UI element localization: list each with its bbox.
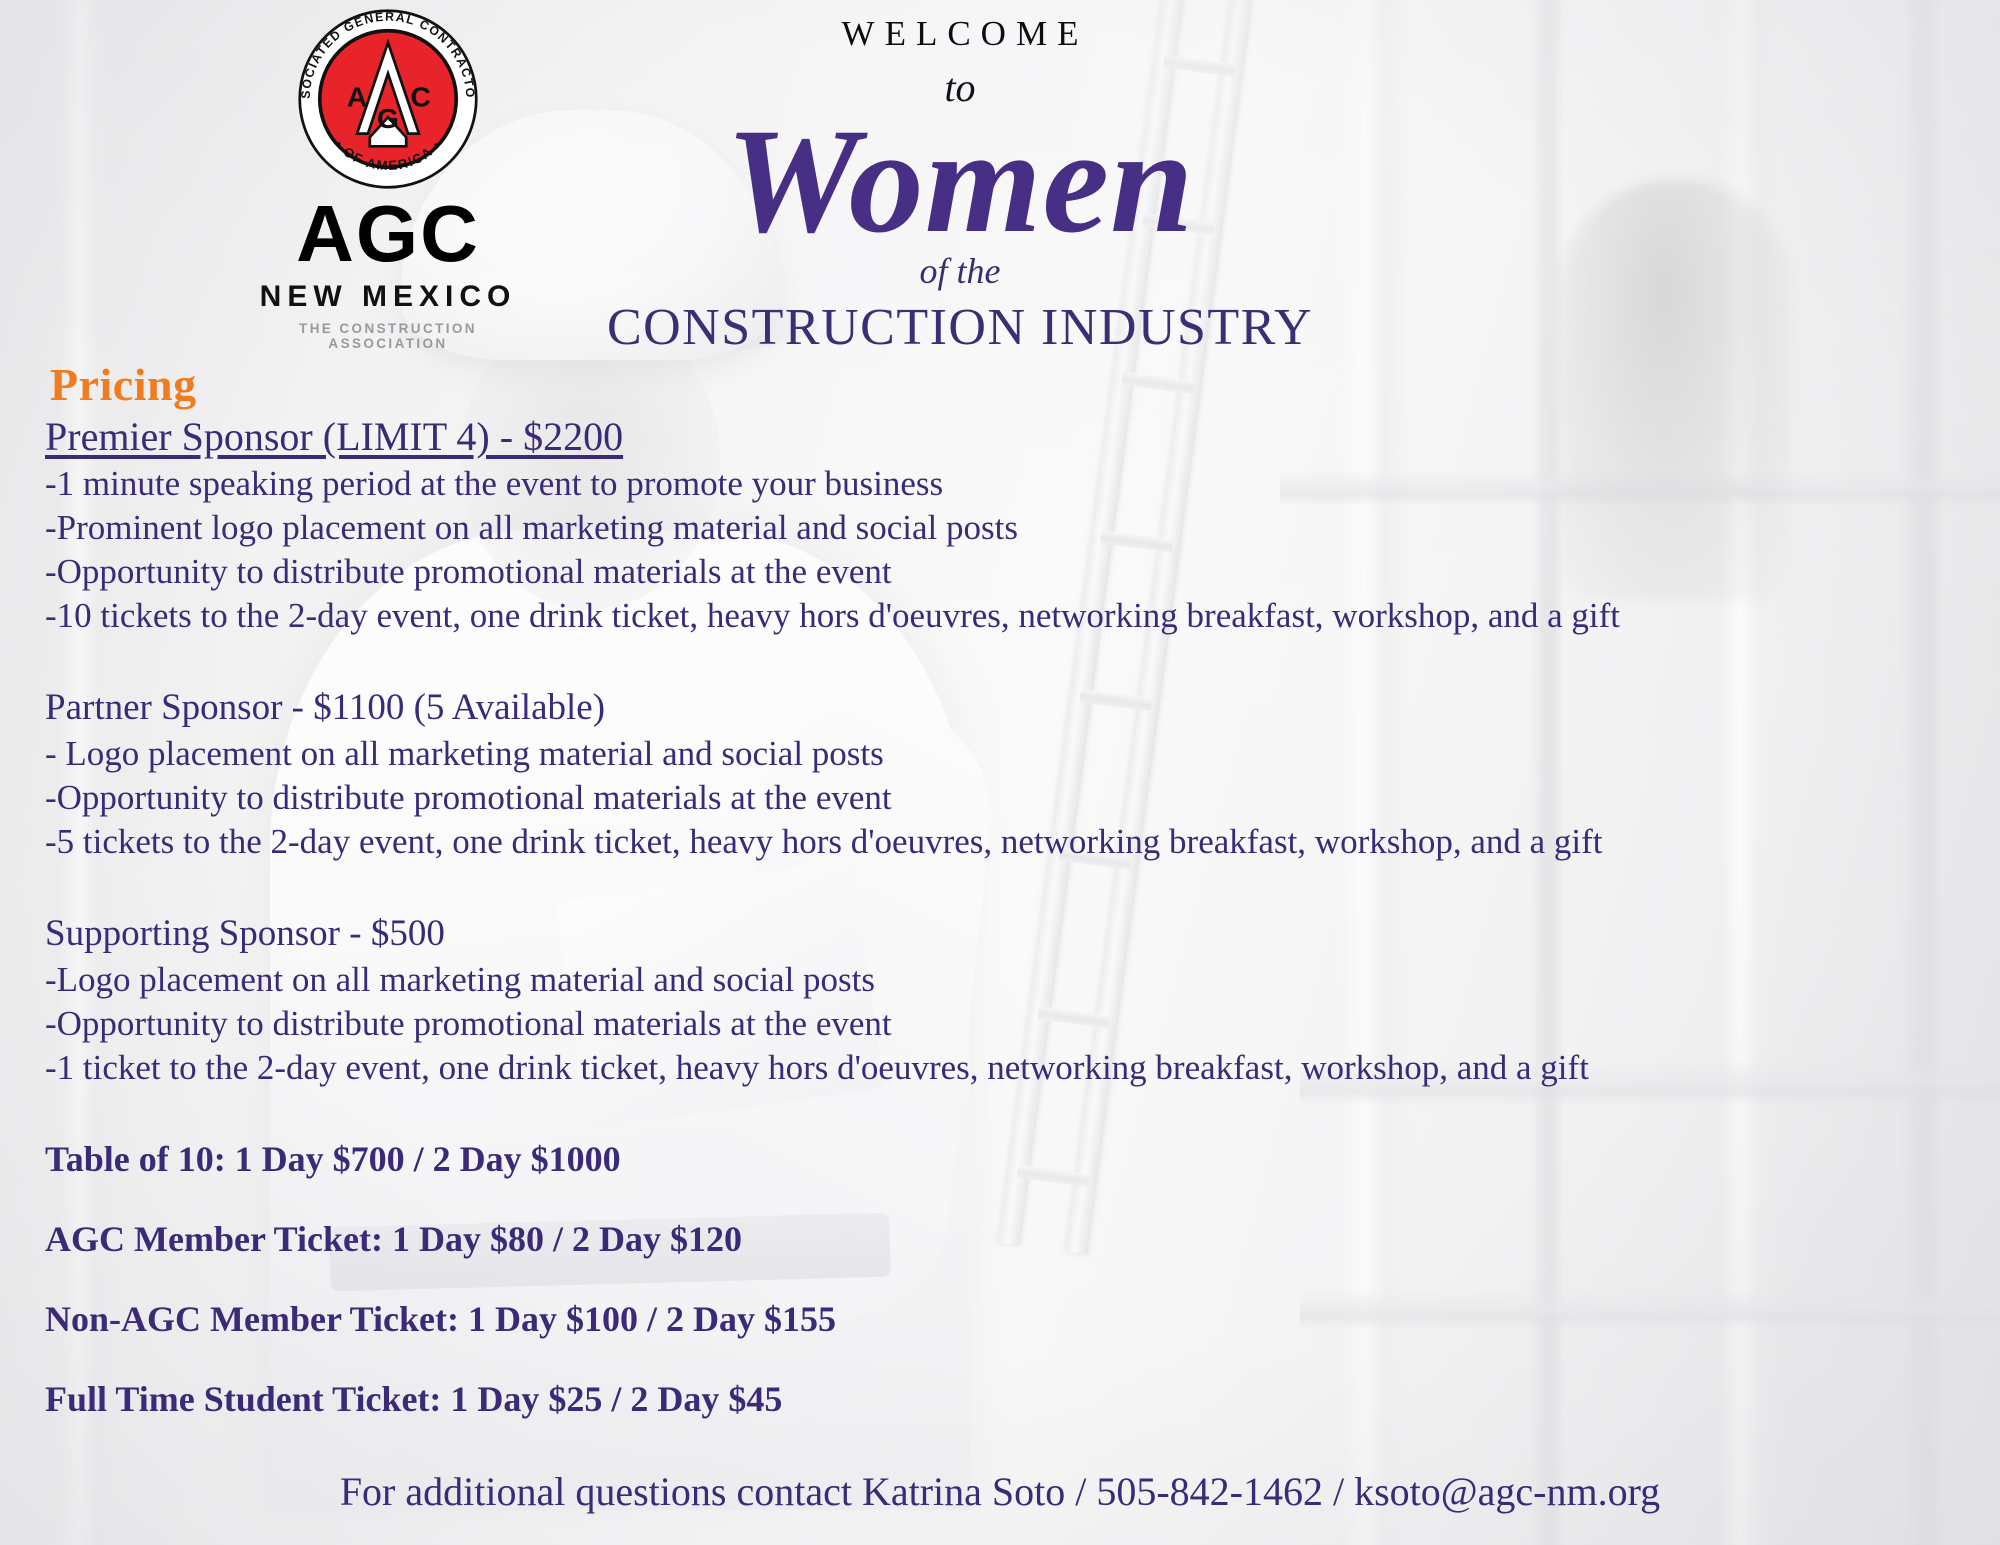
event-headline: WELCOME to Women of the CONSTRUCTION IND…: [510, 14, 1410, 357]
svg-text:A: A: [347, 80, 367, 112]
tier-bullet: -1 minute speaking period at the event t…: [45, 462, 1985, 506]
row-spacer: [45, 1342, 1985, 1376]
ticket-price-row: Non-AGC Member Ticket: 1 Day $100 / 2 Da…: [45, 1296, 1985, 1342]
tier-bullet: -5 tickets to the 2-day event, one drink…: [45, 820, 1985, 864]
headline-women: Women: [510, 106, 1410, 256]
tier-bullet: -10 tickets to the 2-day event, one drin…: [45, 594, 1985, 638]
headline-welcome: WELCOME: [510, 14, 1410, 54]
event-pricing-poster: A G C ASSOCIATED GENERAL CONTRACTORS • O…: [0, 0, 2000, 1545]
pricing-section-title: Pricing: [50, 358, 197, 411]
agc-chapter-label: NEW MEXICO: [238, 280, 538, 314]
tier-bullet: -1 ticket to the 2-day event, one drink …: [45, 1046, 1985, 1090]
section-spacer: [45, 638, 1985, 684]
section-spacer: [45, 1090, 1985, 1136]
tier-heading-supporting: Supporting Sponsor - $500: [45, 910, 1985, 958]
poster-content: A G C ASSOCIATED GENERAL CONTRACTORS • O…: [0, 0, 2000, 1545]
tier-bullet: -Opportunity to distribute promotional m…: [45, 776, 1985, 820]
agc-logo: A G C ASSOCIATED GENERAL CONTRACTORS • O…: [238, 8, 538, 351]
svg-text:C: C: [411, 80, 431, 112]
agc-wordmark: AGC: [238, 196, 538, 272]
headline-of-the: of the: [510, 250, 1410, 292]
ticket-price-row: Full Time Student Ticket: 1 Day $25 / 2 …: [45, 1376, 1985, 1422]
row-spacer: [45, 1182, 1985, 1216]
section-spacer: [45, 864, 1985, 910]
tier-heading-premier: Premier Sponsor (LIMIT 4) - $2200: [45, 412, 1985, 462]
svg-text:G: G: [377, 102, 399, 134]
row-spacer: [45, 1262, 1985, 1296]
agc-seal-icon: A G C ASSOCIATED GENERAL CONTRACTORS • O…: [297, 8, 479, 190]
tier-bullet: -Logo placement on all marketing materia…: [45, 958, 1985, 1002]
tier-bullet: -Prominent logo placement on all marketi…: [45, 506, 1985, 550]
tier-bullet: -Opportunity to distribute promotional m…: [45, 1002, 1985, 1046]
tier-heading-partner: Partner Sponsor - $1100 (5 Available): [45, 684, 1985, 732]
ticket-price-row: Table of 10: 1 Day $700 / 2 Day $1000: [45, 1136, 1985, 1182]
headline-industry: CONSTRUCTION INDUSTRY: [510, 298, 1410, 357]
tier-bullet: - Logo placement on all marketing materi…: [45, 732, 1985, 776]
contact-footer: For additional questions contact Katrina…: [0, 1468, 2000, 1515]
ticket-price-row: AGC Member Ticket: 1 Day $80 / 2 Day $12…: [45, 1216, 1985, 1262]
pricing-body: Premier Sponsor (LIMIT 4) - $2200 -1 min…: [45, 412, 1985, 1422]
tier-bullet: -Opportunity to distribute promotional m…: [45, 550, 1985, 594]
agc-tagline: THE CONSTRUCTION ASSOCIATION: [238, 321, 538, 351]
